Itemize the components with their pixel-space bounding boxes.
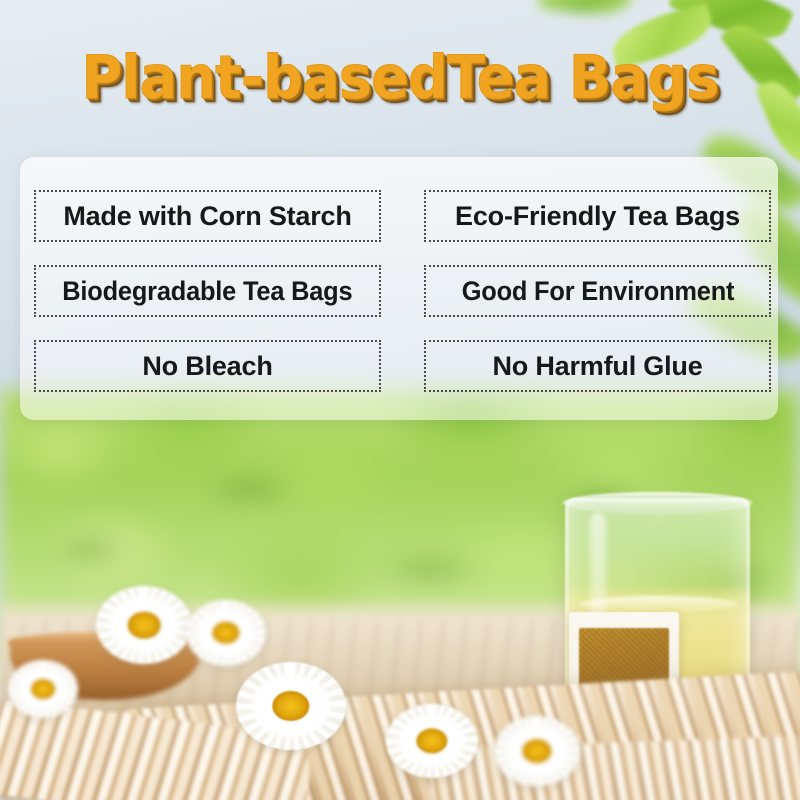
daisy-flower (236, 662, 346, 750)
feature-box: Good For Environment (424, 265, 771, 317)
product-image-canvas: Plant-basedTea Bags Made with Corn Starc… (0, 0, 800, 800)
feature-label: Eco-Friendly Tea Bags (455, 201, 740, 232)
feature-box: Biodegradable Tea Bags (34, 265, 381, 317)
daisy-flower (186, 600, 266, 666)
daisy-flower (386, 704, 478, 778)
page-title: Plant-basedTea Bags (28, 46, 772, 110)
daisy-center (522, 739, 551, 763)
feature-label: Good For Environment (461, 276, 734, 307)
feature-label: No Harmful Glue (492, 351, 702, 382)
daisy-center (128, 612, 161, 639)
daisy-center (272, 691, 309, 721)
feature-list: Made with Corn StarchEco-Friendly Tea Ba… (34, 190, 764, 392)
daisy-flower (494, 716, 580, 786)
feature-label: Made with Corn Starch (63, 201, 351, 232)
feature-box: Made with Corn Starch (34, 190, 381, 242)
feature-label: No Bleach (142, 351, 272, 382)
feature-label: Biodegradable Tea Bags (62, 276, 352, 307)
daisy-flower (96, 586, 192, 664)
feature-box: No Harmful Glue (424, 340, 771, 392)
daisy-center (31, 679, 55, 699)
daisy-flower (8, 660, 78, 718)
feature-box: No Bleach (34, 340, 381, 392)
feature-box: Eco-Friendly Tea Bags (424, 190, 771, 242)
